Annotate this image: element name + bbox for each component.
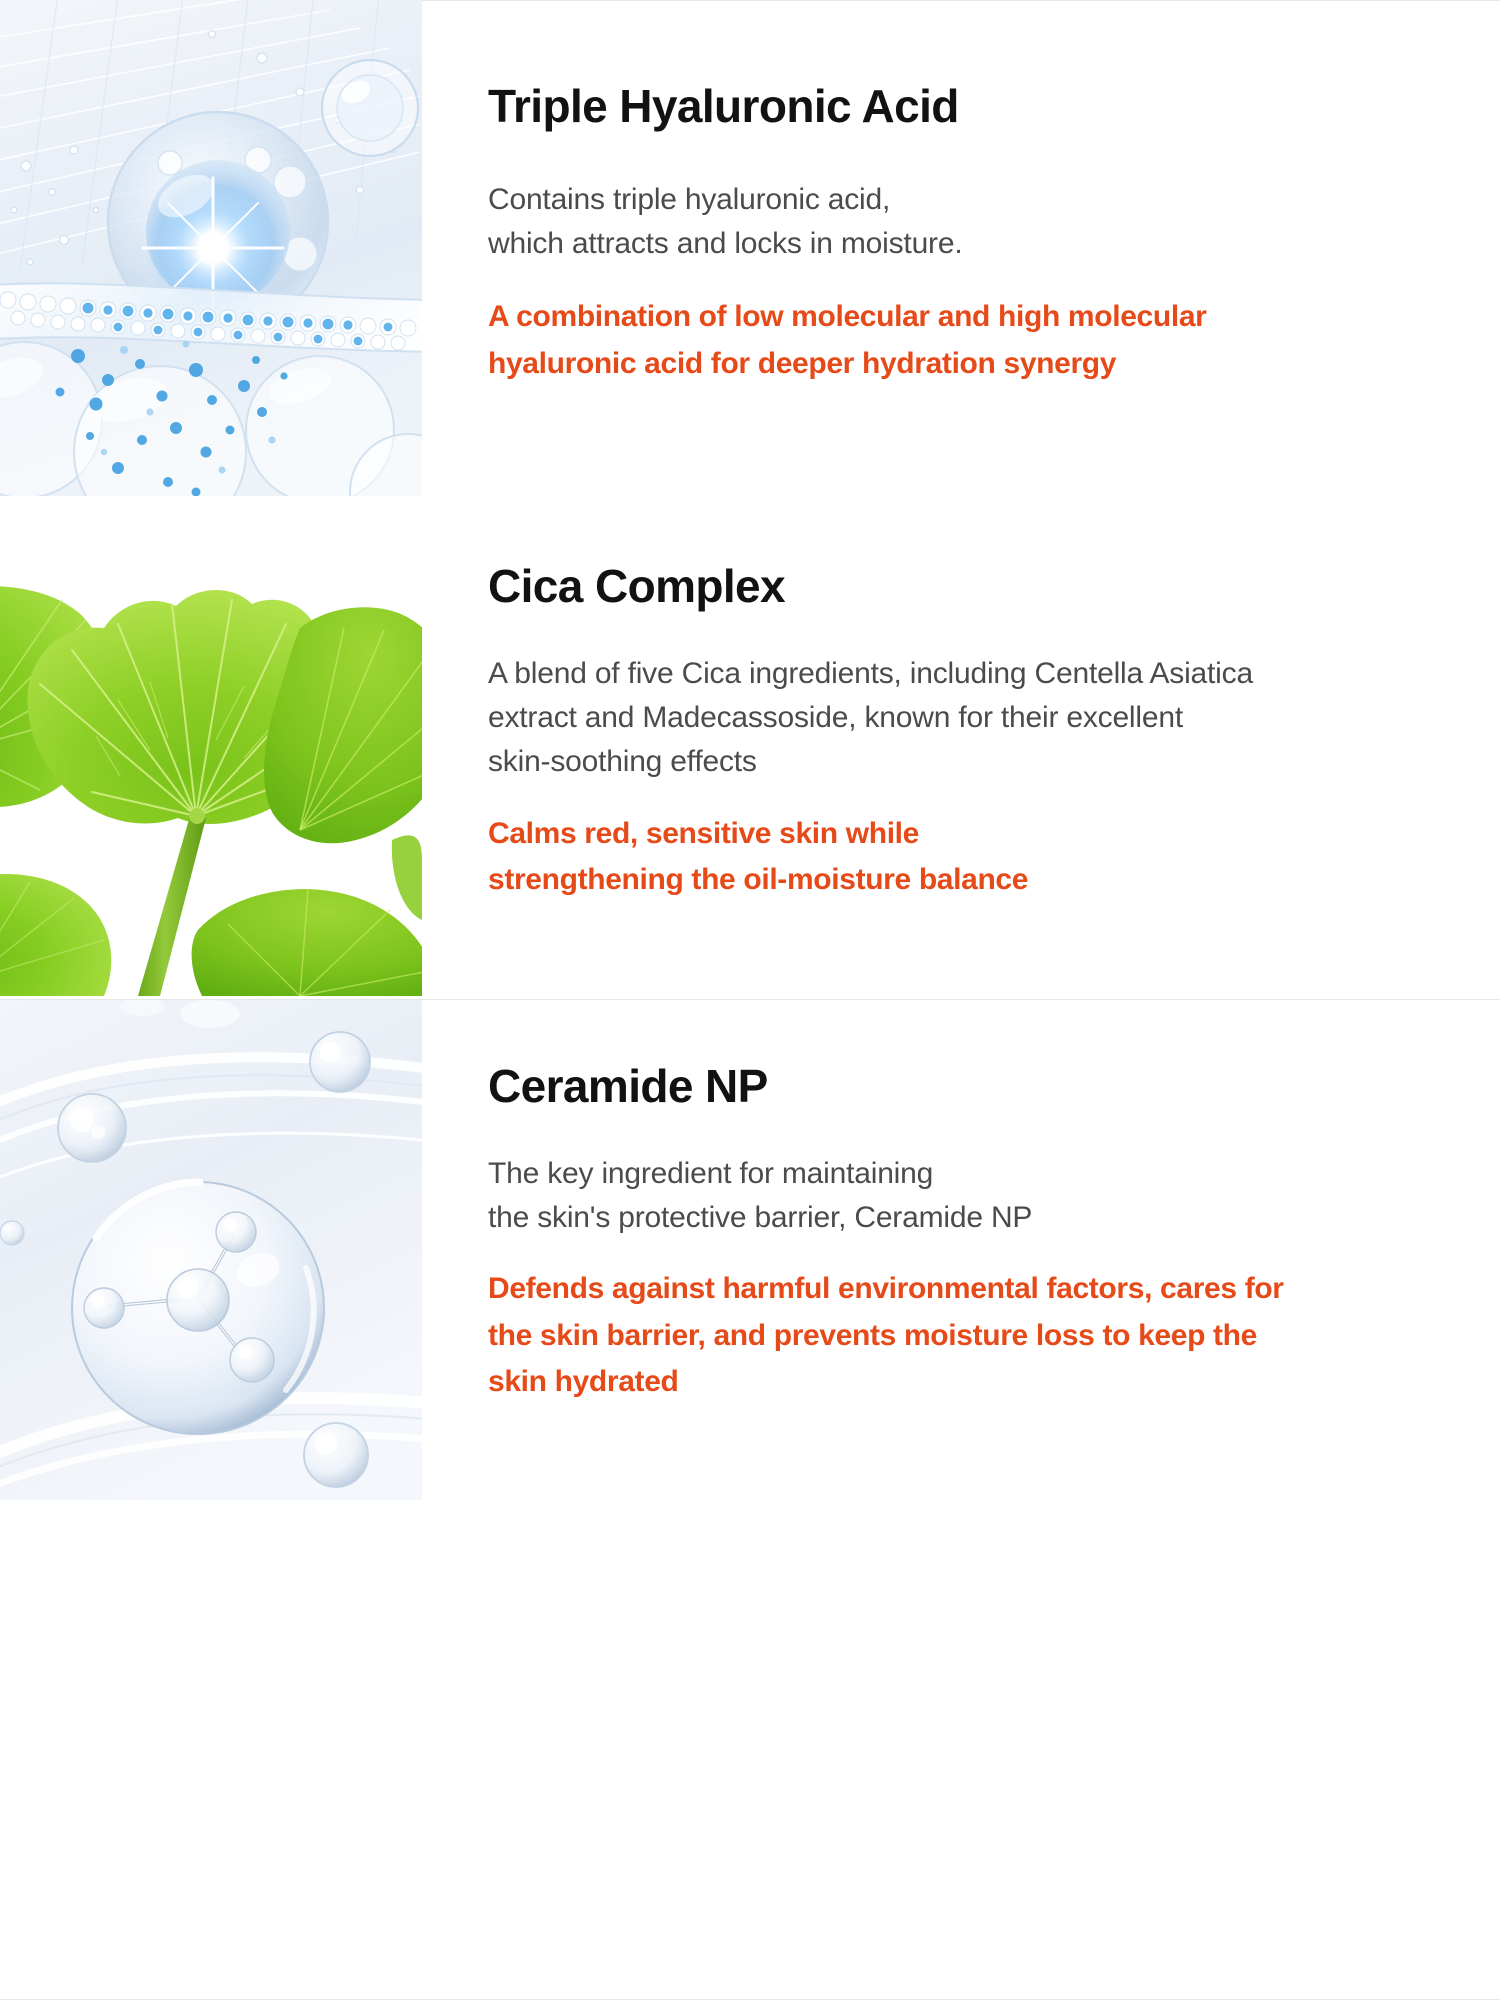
centella-asiatica-leaves-photo: [0, 500, 422, 996]
ceramide-molecule-bubble-photo: [0, 1000, 422, 1500]
description-line: extract and Madecassoside, known for the…: [488, 696, 1460, 740]
section-text-cica: Cica Complex A blend of five Cica ingred…: [422, 500, 1500, 904]
highlight-ceramide: Defends against harmful environmental fa…: [488, 1240, 1460, 1406]
highlight-line: Defends against harmful environmental fa…: [488, 1266, 1460, 1313]
highlight-line: skin hydrated: [488, 1359, 1460, 1406]
highlight-cica: Calms red, sensitive skin while strength…: [488, 785, 1460, 904]
description-hyaluronic: Contains triple hyaluronic acid, which a…: [488, 132, 1460, 267]
page-title-cica: Cica Complex: [488, 500, 1460, 612]
description-line: skin-soothing effects: [488, 740, 1460, 784]
page-title-hyaluronic: Triple Hyaluronic Acid: [488, 0, 1460, 132]
description-ceramide: The key ingredient for maintaining the s…: [488, 1112, 1460, 1241]
description-line: Contains triple hyaluronic acid,: [488, 178, 1460, 222]
description-line: The key ingredient for maintaining: [488, 1152, 1460, 1196]
highlight-line: strengthening the oil-moisture balance: [488, 857, 1460, 904]
description-line: which attracts and locks in moisture.: [488, 222, 1460, 266]
section-triple-hyaluronic-acid: Triple Hyaluronic Acid Contains triple h…: [0, 0, 1500, 500]
page-title-ceramide: Ceramide NP: [488, 1000, 1460, 1112]
description-line: A blend of five Cica ingredients, includ…: [488, 652, 1460, 696]
description-line: the skin's protective barrier, Ceramide …: [488, 1196, 1460, 1240]
section-text-hyaluronic: Triple Hyaluronic Acid Contains triple h…: [422, 0, 1500, 387]
section-ceramide-np: Ceramide NP The key ingredient for maint…: [0, 1000, 1500, 1500]
hyaluronic-gel-bubble-photo: [0, 0, 422, 496]
section-text-ceramide: Ceramide NP The key ingredient for maint…: [422, 1000, 1500, 1406]
section-cica-complex: Cica Complex A blend of five Cica ingred…: [0, 500, 1500, 1000]
description-cica: A blend of five Cica ingredients, includ…: [488, 612, 1460, 785]
highlight-hyaluronic: A combination of low molecular and high …: [488, 266, 1460, 387]
highlight-line: A combination of low molecular and high …: [488, 294, 1460, 341]
highlight-line: hyaluronic acid for deeper hydration syn…: [488, 341, 1460, 388]
ingredient-detail-page: Triple Hyaluronic Acid Contains triple h…: [0, 0, 1500, 1500]
highlight-line: the skin barrier, and prevents moisture …: [488, 1313, 1460, 1360]
highlight-line: Calms red, sensitive skin while: [488, 811, 1460, 858]
